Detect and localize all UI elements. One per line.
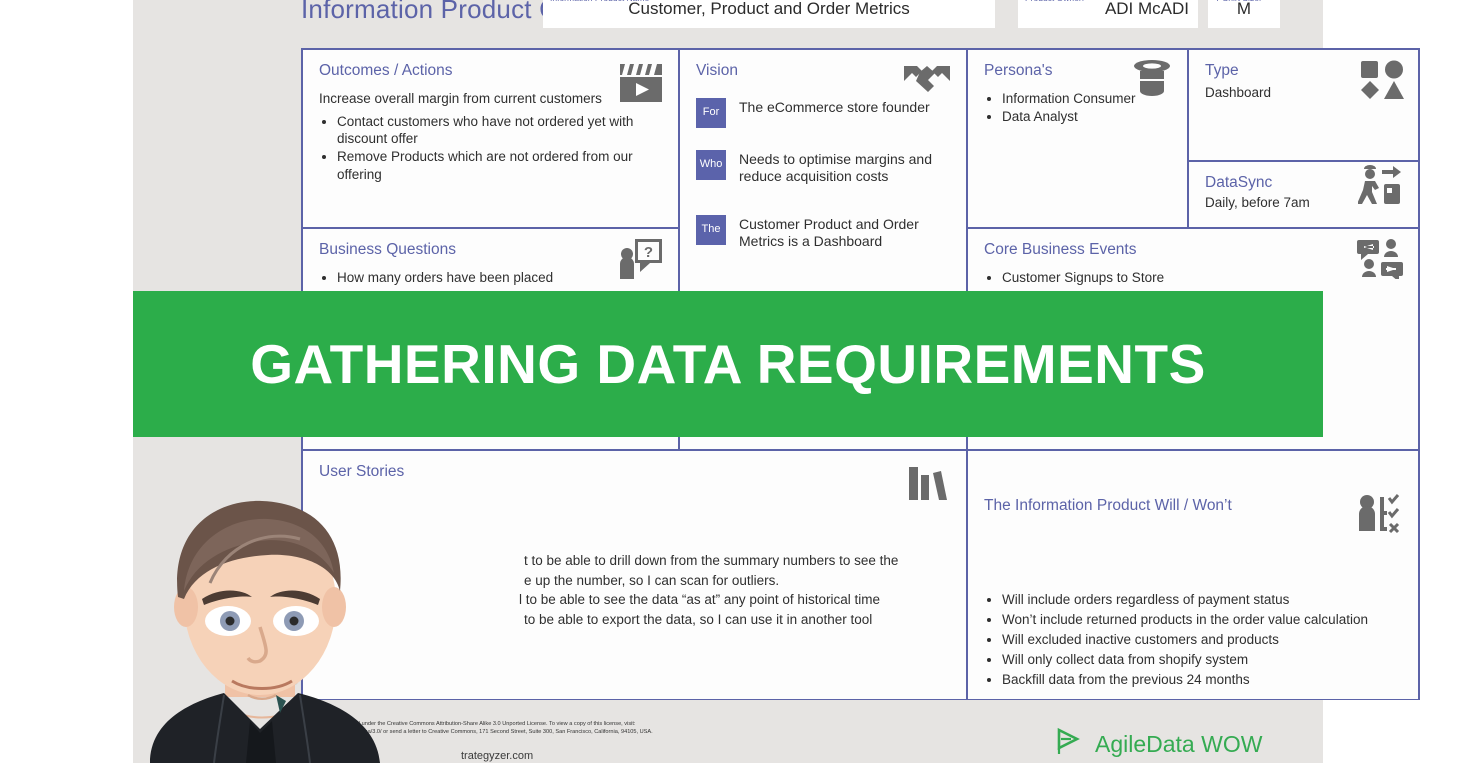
cell-title-datasync: DataSync xyxy=(1205,174,1272,192)
will-wont-bullet-list: Will include orders regardless of paymen… xyxy=(984,591,1402,689)
user-story-line: to be able to export the data, so I can … xyxy=(319,610,950,630)
cell-body-type: Dashboard xyxy=(1205,84,1402,101)
vision-text: Needs to optimise margins and reduce acq… xyxy=(739,150,950,185)
cell-body-personas: Information Consumer Data Analyst xyxy=(984,90,1171,126)
header-field-product-owner[interactable]: Product Owner: ADI McADI xyxy=(1018,0,1198,28)
header-value-product-owner: ADI McADI xyxy=(1105,0,1189,19)
vision-row-the: The Customer Product and Order Metrics i… xyxy=(696,215,950,250)
list-item: Backfill data from the previous 24 month… xyxy=(1002,671,1402,690)
cell-datasync[interactable]: DataSync Daily, before 7am xyxy=(1189,162,1418,227)
header-value-tshirt-size: M xyxy=(1208,0,1280,19)
cell-personas[interactable]: Persona's Information Consumer Data Anal… xyxy=(968,50,1187,227)
header-value-product-name: Customer, Product and Order Metrics xyxy=(543,0,995,19)
cell-user-stories[interactable]: User Stories t to be able to drill down … xyxy=(303,451,966,699)
vision-text: Customer Product and Order Metrics is a … xyxy=(739,215,950,250)
list-item: Will excluded inactive customers and pro… xyxy=(1002,631,1402,650)
vision-tag: For xyxy=(696,98,726,128)
list-item: Data Analyst xyxy=(1002,108,1171,125)
cell-title-user-stories: User Stories xyxy=(319,463,404,481)
brand-label: AgileData WOW xyxy=(1095,731,1262,758)
list-item: Contact customers who have not ordered y… xyxy=(337,113,662,147)
list-item: Will include orders regardless of paymen… xyxy=(1002,591,1402,610)
license-line-2: by-sa/3.0/ or send a letter to Creative … xyxy=(357,728,1057,736)
list-item: Remove Products which are not ordered fr… xyxy=(337,148,662,182)
outcomes-lead: Increase overall margin from current cus… xyxy=(319,90,662,107)
vision-tag: The xyxy=(696,215,726,245)
list-item: Customer Signups to Store xyxy=(1002,269,1402,286)
user-story-line: l to be able to see the data “as at” any… xyxy=(319,590,950,610)
license-text: d under the Creative Commons Attribution… xyxy=(357,720,1057,736)
vision-row-who: Who Needs to optimise margins and reduce… xyxy=(696,150,950,185)
list-item: How many orders have been placed xyxy=(337,269,662,286)
license-line-1: d under the Creative Commons Attribution… xyxy=(357,720,1057,728)
cell-body-outcomes: Increase overall margin from current cus… xyxy=(319,90,662,184)
personas-bullet-list: Information Consumer Data Analyst xyxy=(984,90,1171,125)
agiledata-wow-brand: AgileData WOW xyxy=(1055,727,1262,762)
person-checklist-icon xyxy=(1356,493,1400,540)
cell-title-core-business-events: Core Business Events xyxy=(984,241,1137,259)
cell-title-outcomes: Outcomes / Actions xyxy=(319,62,453,80)
strategyzer-link[interactable]: trategyzer.com xyxy=(461,750,533,762)
vision-tag: Who xyxy=(696,150,726,180)
outcomes-bullet-list: Contact customers who have not ordered y… xyxy=(319,113,662,183)
vision-row-for: For The eCommerce store founder xyxy=(696,98,950,128)
presenter-avatar xyxy=(150,495,380,763)
cell-body-user-stories: t to be able to drill down from the summ… xyxy=(319,551,950,629)
cell-outcomes-actions[interactable]: Outcomes / Actions Increase overall marg… xyxy=(303,50,678,227)
header-label-product-owner: Product Owner: xyxy=(1025,0,1084,3)
cell-title-type: Type xyxy=(1205,62,1239,80)
list-item: Will only collect data from shopify syst… xyxy=(1002,651,1402,670)
business-questions-bullet-list: How many orders have been placed xyxy=(319,269,662,286)
user-story-line: e up the number, so I can scan for outli… xyxy=(319,571,950,591)
left-gutter xyxy=(0,0,133,763)
core-business-events-bullet-list: Customer Signups to Store xyxy=(984,269,1402,286)
handshake-icon xyxy=(902,60,952,99)
agiledata-logo-icon xyxy=(1055,727,1085,762)
user-story-line: t to be able to drill down from the summ… xyxy=(319,551,950,571)
header-field-tshirt-size[interactable]: T-Shirt Size: M xyxy=(1208,0,1280,28)
gathering-data-requirements-banner: GATHERING DATA REQUIREMENTS xyxy=(133,291,1323,437)
books-icon xyxy=(908,463,948,508)
vision-text: The eCommerce store founder xyxy=(739,98,930,116)
cell-title-vision: Vision xyxy=(696,62,738,80)
cell-body-core-business-events: Customer Signups to Store xyxy=(984,269,1402,287)
type-value: Dashboard xyxy=(1205,84,1402,101)
cell-body-will-wont: Will include orders regardless of paymen… xyxy=(984,591,1402,690)
cell-title-will-wont: The Information Product Will / Won’t xyxy=(984,497,1232,515)
banner-title: GATHERING DATA REQUIREMENTS xyxy=(250,332,1206,396)
header-field-product-name[interactable]: Information Product Name Customer, Produ… xyxy=(543,0,995,28)
svg-text:?: ? xyxy=(644,244,653,261)
list-item: Information Consumer xyxy=(1002,90,1171,107)
cell-type[interactable]: Type Dashboard xyxy=(1189,50,1418,160)
cell-title-personas: Persona's xyxy=(984,62,1052,80)
list-item: Won’t include returned products in the o… xyxy=(1002,611,1402,630)
cell-will-wont[interactable]: The Information Product Will / Won’t Wil… xyxy=(968,451,1418,699)
cell-body-datasync: Daily, before 7am xyxy=(1205,194,1402,211)
cell-title-business-questions: Business Questions xyxy=(319,241,456,259)
cell-body-business-questions: How many orders have been placed xyxy=(319,269,662,287)
datasync-value: Daily, before 7am xyxy=(1205,194,1402,211)
